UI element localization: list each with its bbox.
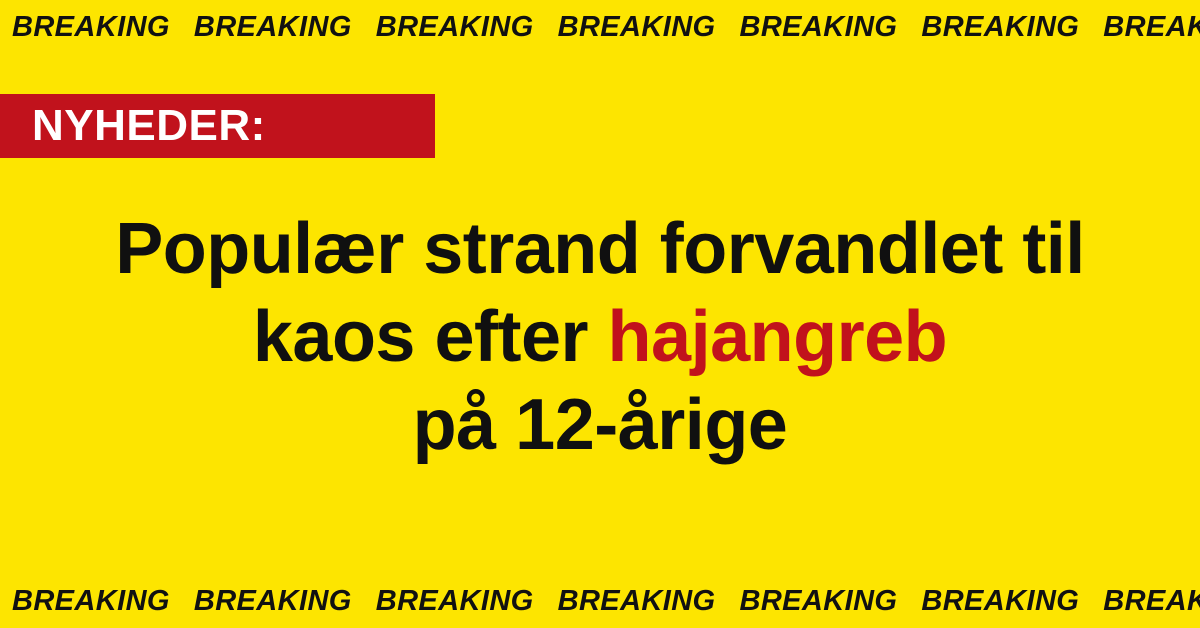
headline-line-3: på 12-årige xyxy=(0,381,1200,469)
headline-block: Populær strand forvandlet til kaos efter… xyxy=(0,205,1200,469)
ticker-word: BREAKING xyxy=(376,13,534,42)
kicker-label: NYHEDER: xyxy=(32,104,266,148)
ticker-word: BREAKING xyxy=(740,13,898,42)
ticker-word-list-top: BREAKING BREAKING BREAKING BREAKING BREA… xyxy=(12,13,1200,42)
headline-line-2-prefix: kaos efter xyxy=(253,297,608,377)
ticker-word: BREAKING xyxy=(12,13,170,42)
ticker-word: BREAKING xyxy=(376,587,534,616)
breaking-news-poster: BREAKING BREAKING BREAKING BREAKING BREA… xyxy=(0,0,1200,628)
ticker-word: BREAKING xyxy=(558,13,716,42)
ticker-word-list-bottom: BREAKING BREAKING BREAKING BREAKING BREA… xyxy=(12,587,1200,616)
ticker-word: BREAKING xyxy=(1103,13,1200,42)
ticker-word: BREAKING xyxy=(921,13,1079,42)
ticker-word: BREAKING xyxy=(194,13,352,42)
ticker-band-bottom: BREAKING BREAKING BREAKING BREAKING BREA… xyxy=(0,574,1200,628)
ticker-word: BREAKING xyxy=(194,587,352,616)
ticker-word: BREAKING xyxy=(1103,587,1200,616)
headline-line-1: Populær strand forvandlet til xyxy=(0,205,1200,293)
ticker-word: BREAKING xyxy=(12,587,170,616)
ticker-word: BREAKING xyxy=(558,587,716,616)
ticker-word: BREAKING xyxy=(921,587,1079,616)
ticker-word: BREAKING xyxy=(740,587,898,616)
headline-line-2: kaos efter hajangreb xyxy=(0,293,1200,381)
ticker-band-top: BREAKING BREAKING BREAKING BREAKING BREA… xyxy=(0,0,1200,54)
kicker-badge: NYHEDER: xyxy=(0,94,435,158)
headline-accent-word: hajangreb xyxy=(608,297,948,377)
